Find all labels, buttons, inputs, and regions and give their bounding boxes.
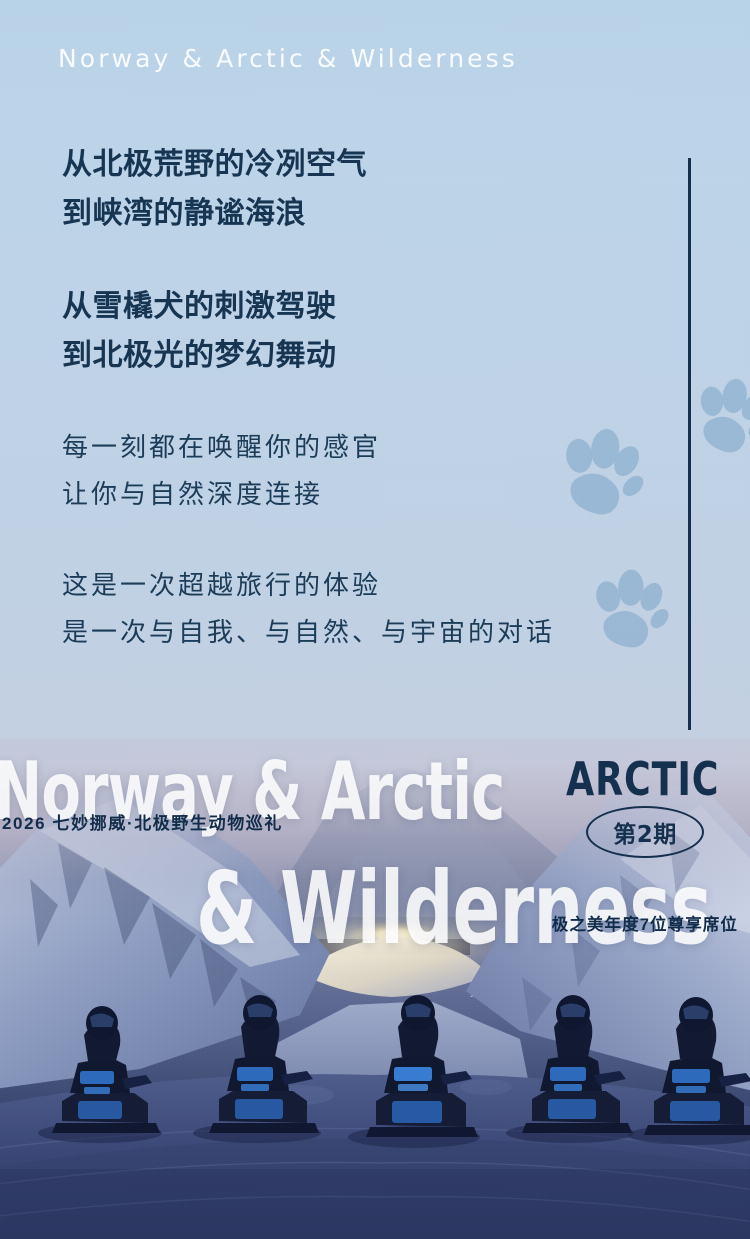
copy-line: 从北极荒野的冷冽空气 <box>62 140 555 189</box>
copy-line: 每一刻都在唤醒你的感官 <box>62 424 555 471</box>
copy-line: 这是一次超越旅行的体验 <box>62 562 555 609</box>
paw-print-icon <box>684 366 750 465</box>
display-headline-line2: & Wilderness <box>196 850 711 967</box>
vertical-divider <box>688 158 691 730</box>
copy-line: 到峡湾的静谧海浪 <box>62 189 555 238</box>
tour-title-caption: 2026 七妙挪威·北极野生动物巡礼 <box>2 809 283 834</box>
seats-caption: 极之美年度7位尊享席位 <box>552 911 738 935</box>
copy-line: 到北极光的梦幻舞动 <box>62 331 555 380</box>
body-copy: 从北极荒野的冷冽空气 到峡湾的静谧海浪 从雪橇犬的刺激驾驶 到北极光的梦幻舞动 … <box>62 140 555 656</box>
edition-badge-label: 第2期 <box>613 815 677 849</box>
paw-print-icon <box>549 415 657 527</box>
copy-block-4: 这是一次超越旅行的体验 是一次与自我、与自然、与宇宙的对话 <box>62 562 555 656</box>
copy-block-2: 从雪橇犬的刺激驾驶 到北极光的梦幻舞动 <box>62 282 555 380</box>
header-eyebrow: Norway & Arctic & Wilderness <box>58 44 518 73</box>
copy-block-1: 从北极荒野的冷冽空气 到峡湾的静谧海浪 <box>62 140 555 238</box>
edition-badge: 第2期 <box>586 806 704 858</box>
arctic-label: ARCTIC <box>566 752 719 806</box>
poster-root: Norway & Arctic & Wilderness 从北极荒野的冷冽空气 … <box>0 0 750 1239</box>
copy-line: 让你与自然深度连接 <box>62 471 555 518</box>
copy-line: 从雪橇犬的刺激驾驶 <box>62 282 555 331</box>
copy-block-3: 每一刻都在唤醒你的感官 让你与自然深度连接 <box>62 424 555 518</box>
paw-print-icon <box>585 559 677 657</box>
copy-line: 是一次与自我、与自然、与宇宙的对话 <box>62 609 555 656</box>
